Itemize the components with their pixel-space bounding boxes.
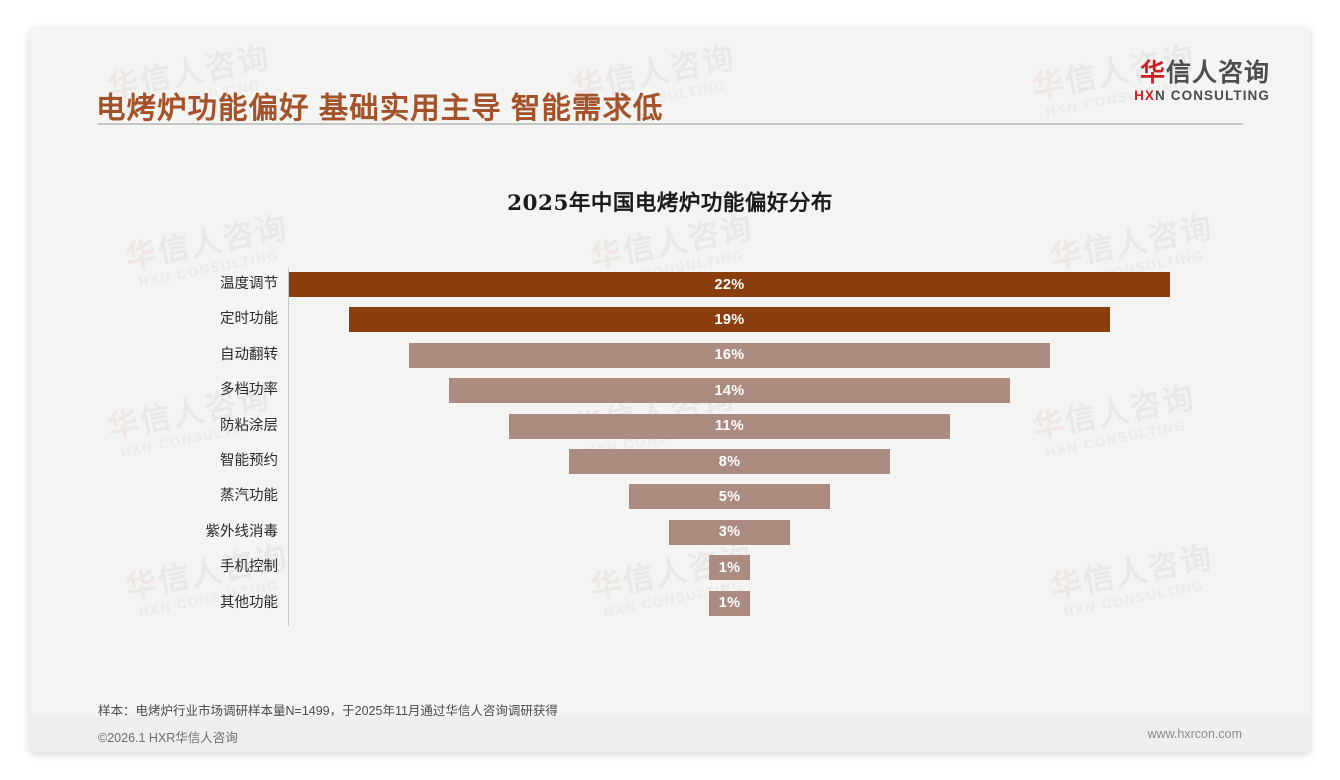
footer-website: www.hxrcon.com (1148, 727, 1242, 741)
chart-bar[interactable]: 8% (569, 449, 889, 474)
chart-bar[interactable]: 1% (709, 591, 749, 616)
bar-value-label: 3% (719, 524, 741, 540)
category-label: 多档功率 (182, 376, 278, 404)
bar-value-label: 19% (715, 312, 745, 328)
bar-value-label: 8% (719, 454, 741, 470)
category-label: 蒸汽功能 (182, 482, 278, 510)
footer-copyright: ©2026.1 HXR华信人咨询 (98, 727, 238, 746)
category-label: 温度调节 (182, 270, 278, 298)
bar-value-label: 1% (719, 560, 741, 576)
chart-row: 蒸汽功能5% (182, 482, 1182, 510)
logo-chinese: 华信人咨询 (1134, 60, 1270, 86)
logo-hua-char: 华 (1140, 59, 1166, 87)
chart-area: 2025年中国电烤炉功能偏好分布 温度调节22%定时功能19%自动翻转16%多档… (30, 138, 1310, 668)
category-label: 紫外线消毒 (182, 518, 278, 546)
bar-value-label: 5% (719, 489, 741, 505)
category-label: 定时功能 (182, 305, 278, 333)
chart-row: 智能预约8% (182, 447, 1182, 475)
category-label: 其他功能 (182, 589, 278, 617)
category-label: 智能预约 (182, 447, 278, 475)
bar-value-label: 1% (719, 595, 741, 611)
chart-bar[interactable]: 22% (289, 272, 1170, 297)
company-logo: 华信人咨询 HXN CONSULTING (1134, 60, 1270, 103)
chart-row: 紫外线消毒3% (182, 518, 1182, 546)
page-title: 电烤炉功能偏好 基础实用主导 智能需求低 (96, 85, 663, 127)
logo-en-rest: N CONSULTING (1155, 88, 1270, 103)
slide-header: 电烤炉功能偏好 基础实用主导 智能需求低 华信人咨询 HXN CONSULTIN… (30, 28, 1310, 138)
bar-value-label: 22% (715, 277, 745, 293)
chart-bar[interactable]: 14% (449, 378, 1010, 403)
chart-bar[interactable]: 16% (409, 343, 1050, 368)
chart-bar[interactable]: 11% (509, 414, 950, 439)
chart-row: 多档功率14% (182, 376, 1182, 404)
chart-bar[interactable]: 3% (669, 520, 789, 545)
chart-row: 温度调节22% (182, 270, 1182, 298)
bar-value-label: 14% (715, 383, 745, 399)
chart-row: 手机控制1% (182, 553, 1182, 581)
category-label: 手机控制 (182, 553, 278, 581)
logo-en-accent: HX (1134, 88, 1155, 103)
header-divider (98, 123, 1243, 125)
logo-english: HXN CONSULTING (1134, 88, 1270, 103)
footer-bar: ©2026.1 HXR华信人咨询 www.hxrcon.com (30, 716, 1310, 752)
chart-bar[interactable]: 5% (629, 484, 829, 509)
logo-cn-rest: 信人咨询 (1166, 59, 1270, 87)
bar-value-label: 11% (715, 418, 744, 434)
chart-row: 防粘涂层11% (182, 412, 1182, 440)
chart-row: 自动翻转16% (182, 341, 1182, 369)
category-label: 自动翻转 (182, 341, 278, 369)
chart-bar[interactable]: 1% (709, 555, 749, 580)
chart-row: 其他功能1% (182, 589, 1182, 617)
chart-row: 定时功能19% (182, 305, 1182, 333)
chart-bar[interactable]: 19% (349, 307, 1110, 332)
bar-value-label: 16% (715, 347, 745, 363)
category-label: 防粘涂层 (182, 412, 278, 440)
funnel-chart-plot: 温度调节22%定时功能19%自动翻转16%多档功率14%防粘涂层11%智能预约8… (182, 268, 1182, 628)
chart-title: 2025年中国电烤炉功能偏好分布 (30, 186, 1310, 217)
slide-card: 华信人咨询HXN CONSULTING华信人咨询HXN CONSULTING华信… (30, 28, 1310, 752)
